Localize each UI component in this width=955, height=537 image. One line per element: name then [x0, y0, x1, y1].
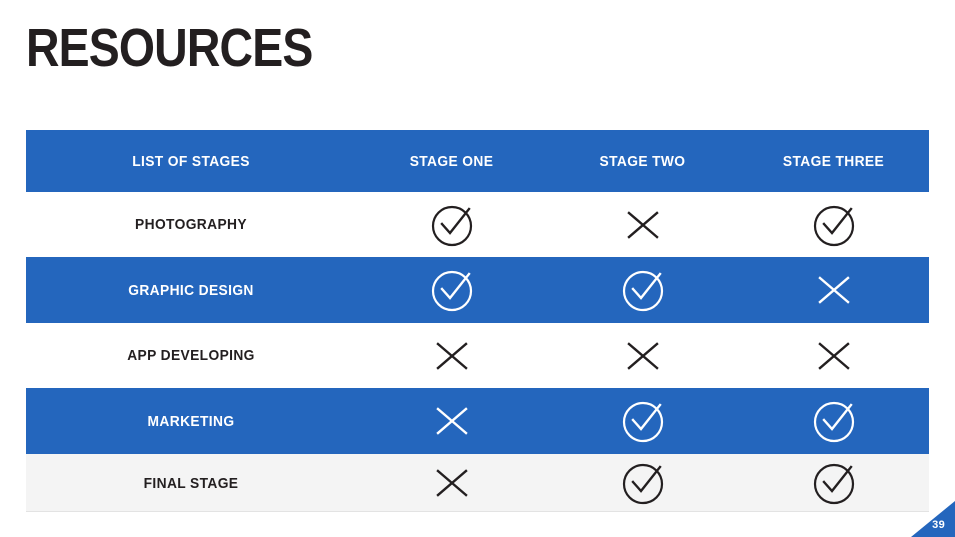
table-row: MARKETING [26, 388, 929, 454]
column-header-stage-one: STAGE ONE [364, 153, 540, 170]
cell-photography-stage-one [356, 199, 547, 251]
cell-graphic-design-stage-two [547, 264, 738, 316]
cell-app-developing-stage-three [738, 330, 929, 382]
table-row: GRAPHIC DESIGN [26, 257, 929, 323]
check-icon [426, 199, 478, 251]
check-icon [617, 457, 669, 509]
cross-icon [426, 330, 478, 382]
check-icon [617, 395, 669, 447]
row-label-app-developing: APP DEVELOPING [39, 347, 343, 364]
cell-graphic-design-stage-three [738, 264, 929, 316]
cross-icon [808, 264, 860, 316]
check-icon [617, 264, 669, 316]
page-number: 39 [932, 519, 945, 531]
table-header-row: LIST OF STAGES STAGE ONE STAGE TWO STAGE… [26, 130, 929, 192]
cell-marketing-stage-two [547, 395, 738, 447]
row-label-final-stage: FINAL STAGE [39, 475, 343, 492]
column-header-list-of-stages: LIST OF STAGES [39, 153, 343, 170]
cell-marketing-stage-one [356, 395, 547, 447]
cell-app-developing-stage-two [547, 330, 738, 382]
page-number-badge: 39 [875, 501, 955, 537]
resources-table: LIST OF STAGES STAGE ONE STAGE TWO STAGE… [26, 130, 929, 512]
check-icon [808, 395, 860, 447]
cross-icon [617, 330, 669, 382]
column-header-stage-three: STAGE THREE [746, 153, 922, 170]
table-row: PHOTOGRAPHY [26, 192, 929, 257]
cell-photography-stage-three [738, 199, 929, 251]
check-icon [426, 264, 478, 316]
row-label-graphic-design: GRAPHIC DESIGN [39, 282, 343, 299]
cell-final-stage-stage-two [547, 457, 738, 509]
row-label-photography: PHOTOGRAPHY [39, 216, 343, 233]
cross-icon [808, 330, 860, 382]
cell-marketing-stage-three [738, 395, 929, 447]
row-label-marketing: MARKETING [39, 413, 343, 430]
cell-photography-stage-two [547, 199, 738, 251]
cross-icon [617, 199, 669, 251]
cross-icon [426, 457, 478, 509]
page-title: RESOURCES [26, 16, 312, 80]
table-row: FINAL STAGE [26, 454, 929, 512]
footer-divider [26, 511, 929, 512]
table-row: APP DEVELOPING [26, 323, 929, 388]
column-header-stage-two: STAGE TWO [555, 153, 731, 170]
cell-graphic-design-stage-one [356, 264, 547, 316]
check-icon [808, 199, 860, 251]
cell-app-developing-stage-one [356, 330, 547, 382]
cell-final-stage-stage-one [356, 457, 547, 509]
check-icon [808, 457, 860, 509]
cross-icon [426, 395, 478, 447]
slide: RESOURCES LIST OF STAGES STAGE ONE STAGE… [0, 0, 955, 537]
